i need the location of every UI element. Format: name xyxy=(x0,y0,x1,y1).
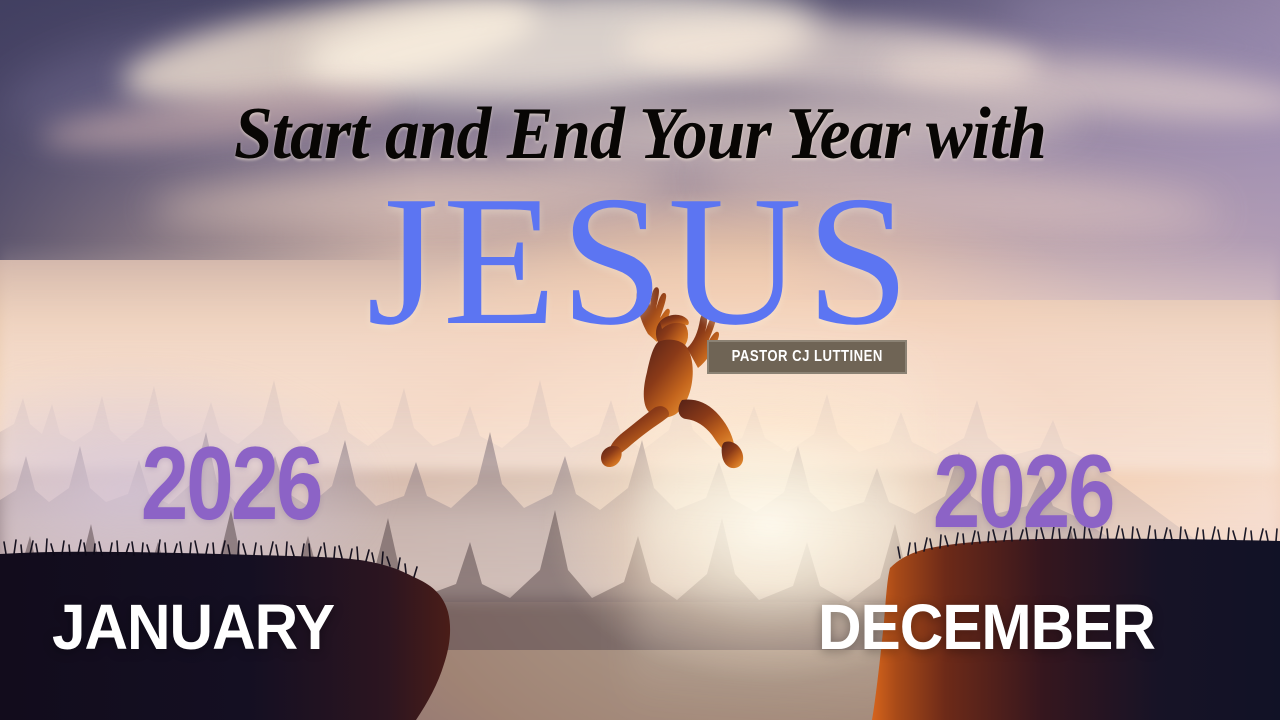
speaker-badge: PASTOR CJ LUTTINEN xyxy=(707,340,907,374)
right-year-label: 2026 xyxy=(933,440,1114,544)
right-month-label: DECEMBER xyxy=(818,596,1155,660)
hero-word: JESUS xyxy=(0,168,1280,354)
left-month-label: JANUARY xyxy=(52,596,334,660)
left-year-label: 2026 xyxy=(141,432,322,536)
sermon-title-graphic: Start and End Your Year with JESUS PASTO… xyxy=(0,0,1280,720)
speaker-name: PASTOR CJ LUTTINEN xyxy=(731,348,882,366)
